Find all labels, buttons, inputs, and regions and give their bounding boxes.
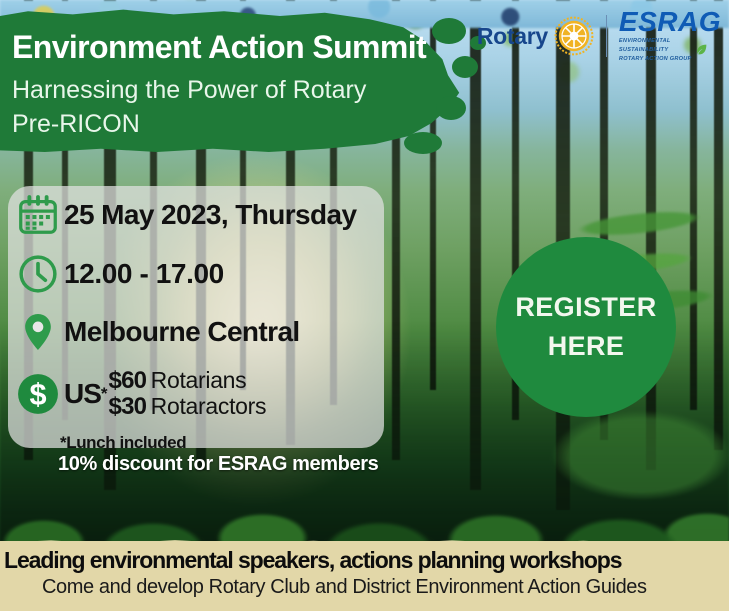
fee-line: $60 Rotarians	[109, 368, 267, 394]
leaf-icon	[695, 43, 708, 56]
poster-tagline: Pre-RICON	[12, 110, 140, 139]
poster-subtitle: Harnessing the Power of Rotary	[12, 76, 366, 105]
register-button-line-2: HERE	[548, 331, 625, 362]
esrag-sub-line-1: ENVIRONMENTAL	[619, 38, 692, 45]
lunch-note: *Lunch included	[60, 433, 186, 453]
map-pin-icon	[12, 310, 64, 354]
esrag-tagline-row: ENVIRONMENTAL SUSTAINABILITY ROTARY ACTI…	[619, 36, 708, 62]
poster-title: Environment Action Summit	[12, 29, 426, 66]
banner-wisp	[404, 132, 442, 154]
footer-headline: Leading environmental speakers, actions …	[4, 547, 621, 574]
event-location: Melbourne Central	[64, 316, 300, 348]
calendar-icon	[12, 192, 64, 238]
esrag-sub-line-2: SUSTAINABILITY	[619, 47, 692, 54]
detail-row-time: 12.00 - 17.00	[12, 252, 224, 296]
fee-audience: Rotaractors	[151, 393, 267, 419]
footer-subline: Come and develop Rotary Club and Distric…	[42, 576, 647, 599]
detail-row-fees: $ US * $60 Rotarians $30 Rotaractors	[12, 368, 266, 420]
dollar-icon: $	[12, 371, 64, 417]
fee-amount: $60	[109, 367, 147, 394]
fee-block: US * $60 Rotarians $30 Rotaractors	[64, 368, 266, 420]
rotary-wheel-icon	[554, 16, 594, 56]
logo-bar: Rotary ESRAG ENVIRONMENTAL SUSTAINABILIT…	[471, 0, 729, 72]
event-date: 25 May 2023, Thursday	[64, 199, 356, 231]
fee-audience: Rotarians	[151, 367, 247, 393]
detail-row-location: Melbourne Central	[12, 310, 300, 354]
fee-asterisk: *	[101, 384, 108, 404]
register-here-button[interactable]: REGISTER HERE	[496, 237, 676, 417]
banner-wisp	[432, 18, 466, 44]
fee-line: $30 Rotaractors	[109, 394, 267, 420]
discount-note: 10% discount for ESRAG members	[58, 453, 378, 476]
banner-wisp	[436, 96, 466, 120]
esrag-sub-line-3: ROTARY ACTION GROUP	[619, 56, 692, 63]
event-poster: Rotary ESRAG ENVIRONMENTAL SUSTAINABILIT…	[0, 0, 729, 611]
register-button-line-1: REGISTER	[515, 292, 656, 323]
rotary-wordmark: Rotary	[477, 23, 548, 50]
fee-amount: $30	[109, 393, 147, 420]
logo-divider	[606, 15, 607, 57]
event-time: 12.00 - 17.00	[64, 258, 224, 290]
esrag-logo: ESRAG ENVIRONMENTAL SUSTAINABILITY ROTAR…	[619, 9, 721, 62]
currency-prefix: US	[64, 378, 101, 410]
esrag-wordmark: ESRAG	[619, 9, 721, 36]
svg-text:$: $	[29, 378, 46, 412]
detail-row-date: 25 May 2023, Thursday	[12, 192, 356, 238]
clock-icon	[12, 252, 64, 296]
